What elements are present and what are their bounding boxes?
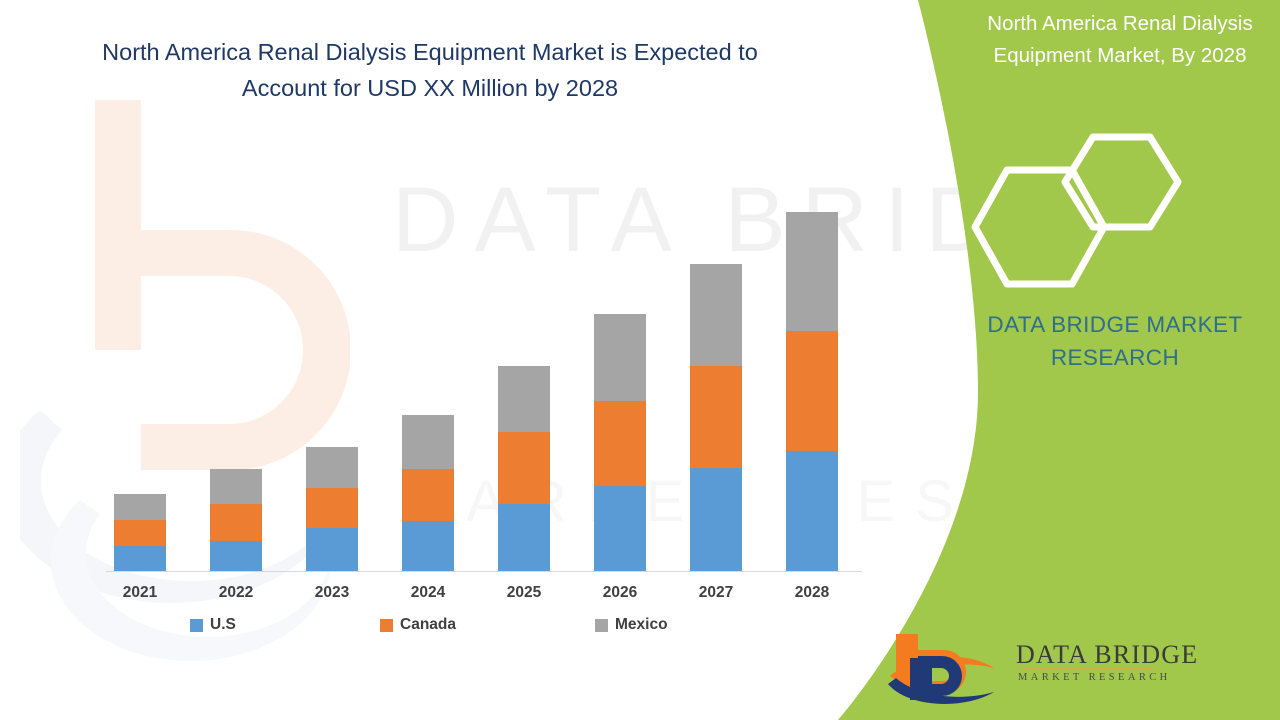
logo-divider [1017,668,1155,669]
panel-title: North America Renal Dialysis Equipment M… [960,8,1280,72]
x-axis-label-2027: 2027 [676,584,756,602]
legend-swatch-icon [595,619,608,632]
logo-wordmark: DATA BRIDGE [1016,640,1198,670]
bar-group [498,366,550,571]
chart-infographic: DATA BRIDGE MARKET RESEARCH North Americ… [0,0,1280,720]
logo-subtitle: MARKET RESEARCH [1018,672,1171,683]
bar-segment-us [114,546,166,571]
bar-group [594,314,646,571]
bar-segment-us [306,528,358,571]
hexagon-badges [960,132,1190,292]
x-axis-label-2023: 2023 [292,584,372,602]
bar-segment-canada [210,504,262,541]
bar-series-container [50,180,820,572]
bar-segment-mexico [594,314,646,401]
brand-name: DATA BRIDGE MARKET RESEARCH [950,308,1280,374]
bar-segment-mexico [498,366,550,432]
bar-segment-canada [690,366,742,468]
x-axis-label-2025: 2025 [484,584,564,602]
bar-group [402,415,454,571]
legend-label: U.S [210,616,236,634]
legend-item-us[interactable]: U.S [190,616,236,634]
bar-segment-mexico [690,264,742,366]
bar-segment-canada [498,432,550,504]
bar-group [690,264,742,571]
x-axis-labels: 20212022202320242025202620272028 [50,584,820,610]
bar-group [306,447,358,571]
bar-group [210,469,262,571]
bar-segment-mexico [114,494,166,520]
bar-segment-us [690,468,742,571]
x-axis-label-2022: 2022 [196,584,276,602]
x-axis-label-2026: 2026 [580,584,660,602]
legend-swatch-icon [380,619,393,632]
bar-segment-mexico [210,469,262,504]
bar-segment-us [402,521,454,571]
legend-swatch-icon [190,619,203,632]
bar-segment-mexico [306,447,358,488]
legend-item-mexico[interactable]: Mexico [595,616,668,634]
bar-segment-mexico [402,415,454,469]
bar-segment-us [210,541,262,571]
green-panel-content: North America Renal Dialysis Equipment M… [810,0,1280,720]
bar-segment-us [498,504,550,571]
plot-area [50,180,820,572]
chart-legend: U.SCanadaMexico [50,616,750,642]
x-axis-label-2024: 2024 [388,584,468,602]
x-axis-label-2021: 2021 [100,584,180,602]
bar-group [114,494,166,571]
legend-label: Canada [400,616,456,634]
legend-label: Mexico [615,616,668,634]
legend-item-canada[interactable]: Canada [380,616,456,634]
bar-segment-us [594,486,646,571]
chart-title: North America Renal Dialysis Equipment M… [72,34,788,106]
bar-segment-canada [402,469,454,521]
bar-segment-canada [594,401,646,486]
bar-segment-canada [114,520,166,546]
bar-segment-canada [306,488,358,528]
